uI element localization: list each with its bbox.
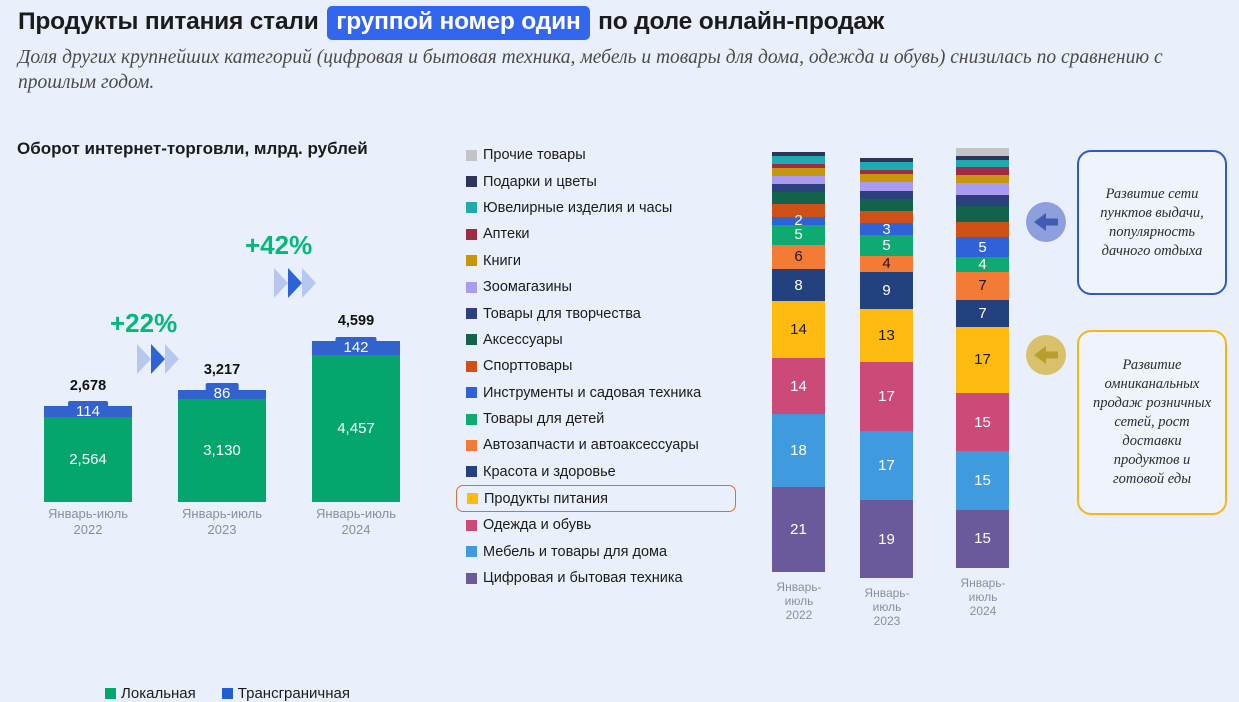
stack-x-label: Январь-июль2022 — [754, 580, 844, 622]
stack-segment-value: 18 — [790, 443, 807, 458]
stack-segment — [956, 167, 1009, 175]
stack-segment: 21 — [772, 487, 825, 572]
turnover-x-label-line: 2023 — [152, 522, 292, 538]
stack-segment: 5 — [956, 237, 1009, 256]
turnover-x-label-line: 2022 — [18, 522, 158, 538]
category-legend-label: Книги — [483, 253, 521, 269]
category-legend-item[interactable]: Товары для детей — [462, 406, 752, 432]
turnover-legend: ЛокальнаяТрансграничная — [0, 685, 455, 702]
callout-box: Развитие омниканальных продаж розничных … — [1077, 330, 1227, 515]
category-legend: Прочие товарыПодарки и цветыЮвелирные из… — [462, 142, 752, 591]
stack-segment: 5 — [772, 225, 825, 245]
turnover-legend-label: Трансграничная — [238, 685, 350, 702]
legend-swatch-icon — [466, 202, 477, 213]
stack-segment-value: 8 — [794, 278, 802, 293]
stack-x-label-line: июль — [842, 600, 932, 614]
stack-segment-value: 5 — [882, 238, 890, 253]
stack-x-label-line: Январь- — [842, 586, 932, 600]
turnover-segment-crossborder: 114 — [44, 406, 132, 417]
stack-segment — [956, 148, 1009, 156]
stack-segment-highlighted: 13 — [860, 309, 913, 362]
stack-x-label-line: 2022 — [754, 608, 844, 622]
stack-segment-value: 6 — [794, 249, 802, 264]
turnover-legend-item[interactable]: Трансграничная — [222, 685, 350, 702]
legend-swatch-icon — [466, 466, 477, 477]
legend-swatch-icon — [466, 229, 477, 240]
turnover-segment-crossborder: 142 — [312, 341, 400, 355]
stack-segment: 9 — [860, 272, 913, 309]
stack-segment-value: 15 — [974, 473, 991, 488]
turnover-segment-local: 3,130 — [178, 399, 266, 502]
turnover-x-label: Январь-июль2024 — [286, 506, 426, 538]
stack-segment-value: 5 — [794, 227, 802, 242]
stack-x-label: Январь-июль2024 — [938, 576, 1028, 618]
category-legend-item[interactable]: Товары для творчества — [462, 300, 752, 326]
turnover-value-local: 3,130 — [203, 442, 241, 459]
category-legend-label: Прочие товары — [483, 147, 586, 163]
legend-swatch-icon — [466, 546, 477, 557]
stack-segment — [860, 182, 913, 190]
stack-segment: 19 — [860, 500, 913, 577]
legend-swatch-icon — [467, 493, 478, 504]
stack-x-label-line: июль — [754, 594, 844, 608]
category-legend-label: Инструменты и садовая техника — [483, 385, 701, 401]
category-legend-item[interactable]: Одежда и обувь — [462, 512, 752, 538]
stack-segment — [860, 199, 913, 211]
callout-box: Развитие сети пунктов выдачи, популярнос… — [1077, 150, 1227, 295]
stack-segment — [860, 162, 913, 170]
stack-segment — [956, 160, 1009, 168]
turnover-value-local: 2,564 — [69, 451, 107, 468]
stack-segment-value: 13 — [878, 328, 895, 343]
stack-segment — [956, 206, 1009, 222]
growth-label: +22% — [110, 308, 177, 339]
stack-segment-value: 4 — [978, 257, 986, 272]
legend-swatch-icon — [466, 176, 477, 187]
title-text-before: Продукты питания стали — [18, 8, 319, 35]
legend-swatch-icon — [466, 150, 477, 161]
stack-x-label-line: июль — [938, 590, 1028, 604]
stack-segment: 17 — [860, 362, 913, 431]
stack-segment-value: 17 — [878, 389, 895, 404]
legend-swatch-icon — [466, 282, 477, 293]
category-share-chart: 256814141821Январь-июль2022354913171719Я… — [760, 140, 1010, 620]
stack-segment: 4 — [860, 256, 913, 272]
stack-segment — [956, 183, 1009, 195]
turnover-x-label-line: Январь-июль — [18, 506, 158, 522]
category-legend-item-highlighted[interactable]: Продукты питания — [456, 485, 736, 512]
stack-segment-highlighted: 17 — [956, 327, 1009, 393]
stack-segment: 6 — [772, 245, 825, 269]
category-legend-label: Аксессуары — [483, 332, 563, 348]
turnover-x-label-line: Январь-июль — [286, 506, 426, 522]
stack-segment-value: 4 — [882, 256, 890, 271]
category-share-column: 547717151515 — [956, 148, 1009, 568]
turnover-bar-group: 863,130 — [178, 390, 266, 502]
category-legend-label: Ювелирные изделия и часы — [483, 200, 672, 216]
stack-segment-value: 15 — [974, 531, 991, 546]
stack-segment-value: 17 — [878, 458, 895, 473]
stack-segment — [772, 168, 825, 176]
legend-swatch-icon — [466, 308, 477, 319]
stack-segment-value: 15 — [974, 415, 991, 430]
turnover-bar-group: 1142,564 — [44, 406, 132, 502]
stack-x-label-line: 2024 — [938, 604, 1028, 618]
category-legend-label: Продукты питания — [484, 491, 608, 507]
legend-swatch-icon — [105, 688, 116, 699]
stack-segment: 8 — [772, 269, 825, 301]
category-legend-item[interactable]: Цифровая и бытовая техника — [462, 565, 752, 591]
growth-label: +42% — [245, 230, 312, 261]
stack-segment-value: 5 — [978, 240, 986, 255]
stack-segment-value: 3 — [882, 222, 890, 237]
page-subtitle: Доля других крупнейших категорий (цифров… — [18, 45, 1203, 95]
turnover-legend-label: Локальная — [121, 685, 196, 702]
turnover-segment-local: 2,564 — [44, 417, 132, 502]
stack-segment: 7 — [956, 272, 1009, 299]
stack-segment: 4 — [956, 257, 1009, 273]
stack-segment: 5 — [860, 235, 913, 255]
turnover-chart-title: Оборот интернет-торговли, млрд. рублей — [17, 139, 368, 159]
stack-segment: 14 — [772, 358, 825, 415]
stack-segment-value: 9 — [882, 283, 890, 298]
legend-swatch-icon — [466, 334, 477, 345]
category-legend-item[interactable]: Спорттовары — [462, 353, 752, 379]
stack-x-label: Январь-июль2023 — [842, 586, 932, 628]
stack-segment-highlighted: 14 — [772, 301, 825, 358]
category-legend-label: Товары для детей — [483, 411, 604, 427]
legend-swatch-icon — [466, 255, 477, 266]
stack-segment — [860, 174, 913, 182]
stack-segment — [772, 176, 825, 184]
category-share-column: 256814141821 — [772, 152, 825, 572]
stack-segment-value: 7 — [978, 306, 986, 321]
stack-segment-value: 14 — [790, 322, 807, 337]
category-legend-item[interactable]: Инструменты и садовая техника — [462, 380, 752, 406]
stack-x-label-line: Январь- — [754, 580, 844, 594]
category-legend-label: Мебель и товары для дома — [483, 544, 667, 560]
stack-segment-value: 14 — [790, 379, 807, 394]
legend-swatch-icon — [466, 573, 477, 584]
turnover-x-label-line: 2024 — [286, 522, 426, 538]
category-legend-label: Цифровая и бытовая техника — [483, 570, 683, 586]
stack-segment-value: 17 — [974, 352, 991, 367]
category-legend-label: Подарки и цветы — [483, 174, 597, 190]
stack-segment: 17 — [860, 431, 913, 500]
category-legend-label: Красота и здоровье — [483, 464, 616, 480]
stack-segment: 15 — [956, 510, 1009, 568]
stack-segment — [956, 195, 1009, 207]
category-legend-item[interactable]: Красота и здоровье — [462, 459, 752, 485]
stack-segment: 15 — [956, 451, 1009, 509]
category-legend-item[interactable]: Автозапчасти и автоаксессуары — [462, 432, 752, 458]
stack-segment: 7 — [956, 300, 1009, 327]
category-legend-label: Товары для творчества — [483, 306, 641, 322]
legend-swatch-icon — [222, 688, 233, 699]
stack-segment — [956, 175, 1009, 183]
legend-swatch-icon — [466, 387, 477, 398]
legend-swatch-icon — [466, 440, 477, 451]
stack-x-label-line: Январь- — [938, 576, 1028, 590]
stack-segment — [772, 156, 825, 164]
growth-arrow-icon — [135, 342, 183, 381]
turnover-value-local: 4,457 — [337, 420, 375, 437]
legend-swatch-icon — [466, 361, 477, 372]
turnover-x-label: Январь-июль2023 — [152, 506, 292, 538]
turnover-chart: Оборот интернет-торговли, млрд. рублей 1… — [0, 130, 455, 600]
stack-segment — [860, 191, 913, 199]
stack-segment: 18 — [772, 414, 825, 487]
page-title: Продукты питания стали группой номер оди… — [18, 6, 1228, 40]
stack-segment — [772, 184, 825, 192]
legend-swatch-icon — [466, 414, 477, 425]
turnover-segment-local: 4,457 — [312, 355, 400, 502]
turnover-segment-crossborder: 86 — [178, 390, 266, 399]
turnover-bar-group: 1424,457 — [312, 341, 400, 502]
turnover-x-label: Январь-июль2022 — [18, 506, 158, 538]
legend-swatch-icon — [466, 520, 477, 531]
callout-arrow-left-icon — [1026, 202, 1066, 242]
category-legend-item[interactable]: Подарки и цветы — [462, 168, 752, 194]
category-legend-item[interactable]: Ювелирные изделия и часы — [462, 195, 752, 221]
category-legend-label: Спорттовары — [483, 358, 572, 374]
stack-segment — [772, 192, 825, 204]
turnover-total-label: 4,599 — [286, 313, 426, 329]
category-legend-item[interactable]: Аксессуары — [462, 327, 752, 353]
turnover-legend-item[interactable]: Локальная — [105, 685, 196, 702]
callout-arrow-left-icon — [1026, 335, 1066, 375]
category-legend-item[interactable]: Прочие товары — [462, 142, 752, 168]
stack-segment-value: 21 — [790, 522, 807, 537]
stack-segment: 15 — [956, 393, 1009, 451]
growth-arrow-icon — [272, 266, 320, 305]
category-legend-label: Одежда и обувь — [483, 517, 591, 533]
category-legend-item[interactable]: Книги — [462, 248, 752, 274]
category-legend-label: Зоомагазины — [483, 279, 572, 295]
stack-segment — [956, 222, 1009, 238]
category-legend-item[interactable]: Мебель и товары для дома — [462, 538, 752, 564]
stack-segment-value: 7 — [978, 278, 986, 293]
stack-segment: 3 — [860, 223, 913, 235]
category-share-column: 354913171719 — [860, 158, 913, 578]
category-legend-label: Автозапчасти и автоаксессуары — [483, 437, 699, 453]
category-legend-label: Аптеки — [483, 226, 530, 242]
title-text-after: по доле онлайн-продаж — [598, 8, 884, 35]
stack-segment-value: 19 — [878, 532, 895, 547]
title-highlight-chip: группой номер один — [327, 6, 589, 40]
stack-segment: 2 — [772, 217, 825, 225]
turnover-x-label-line: Январь-июль — [152, 506, 292, 522]
category-legend-item[interactable]: Зоомагазины — [462, 274, 752, 300]
category-legend-item[interactable]: Аптеки — [462, 221, 752, 247]
stack-x-label-line: 2023 — [842, 614, 932, 628]
